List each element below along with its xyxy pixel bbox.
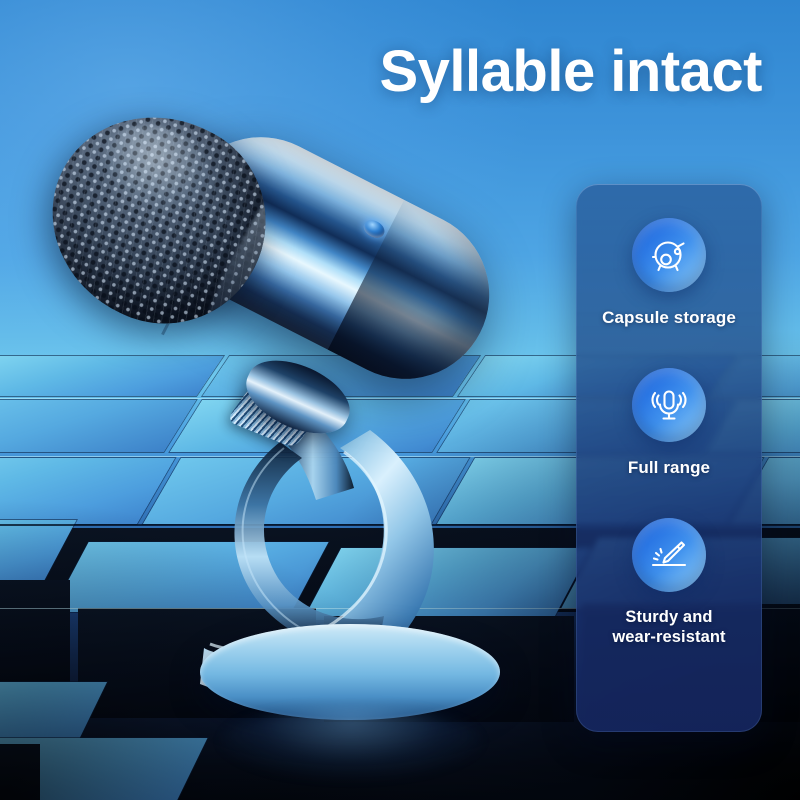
feature-label: Capsule storage: [602, 308, 736, 328]
base-reflection: [220, 708, 482, 778]
microphone-product: [48, 96, 608, 776]
feature-item-capsule-storage[interactable]: Capsule storage: [586, 218, 752, 328]
feature-label-line-1: Sturdy and: [625, 608, 712, 626]
product-image-stage: Syllable intact Capsule storage: [0, 0, 800, 800]
feature-label: Full range: [628, 458, 710, 478]
feature-item-sturdy-wear-resistant[interactable]: Sturdy and wear-resistant: [586, 518, 752, 647]
capsule-diaphragm-icon: [632, 218, 706, 292]
scratch-resistance-blade-icon: [632, 518, 706, 592]
page-title: Syllable intact: [379, 42, 762, 103]
feature-item-full-range[interactable]: Full range: [586, 368, 752, 478]
microphone-soundwave-icon: [632, 368, 706, 442]
feature-panel: Capsule storage Full range: [576, 184, 762, 732]
stand-base-disc: [200, 624, 500, 720]
feature-label: Sturdy and wear-resistant: [612, 608, 725, 647]
feature-label-line-2: wear-resistant: [612, 628, 725, 646]
